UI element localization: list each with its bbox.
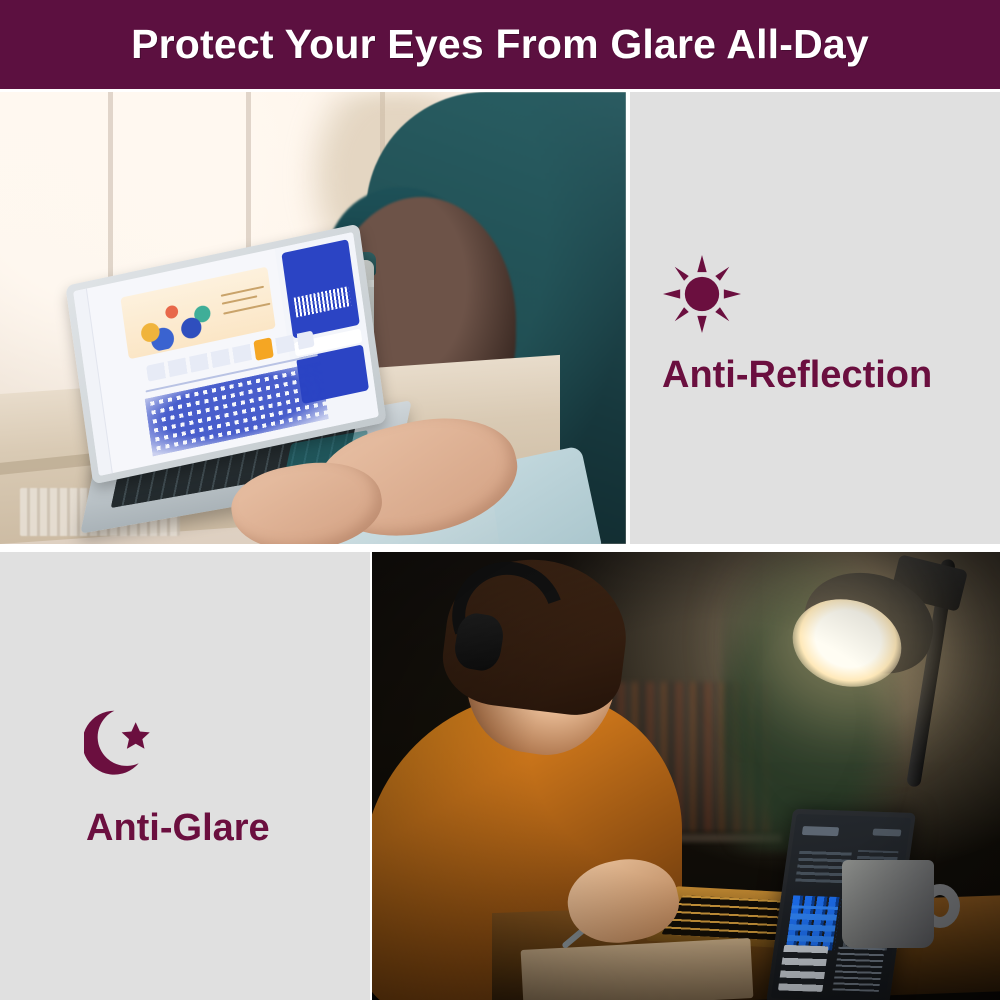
app-card-list <box>778 945 829 992</box>
app-chart-bars <box>787 905 838 942</box>
night-desk-lamp-photo <box>372 552 1000 1000</box>
feature-panel-anti-glare: Anti-Glare <box>0 552 370 1000</box>
notebook-paper <box>521 938 754 1000</box>
top-row: Anti-Reflection <box>0 92 1000 544</box>
page-title: Protect Your Eyes From Glare All-Day <box>131 21 869 68</box>
app-text-block <box>832 947 884 992</box>
time-chip-selected <box>253 337 273 361</box>
app-menu-placeholder <box>872 829 901 837</box>
feature-label-anti-glare: Anti-Glare <box>86 807 270 850</box>
feature-panel-anti-reflection: Anti-Reflection <box>630 92 1000 544</box>
coffee-mug <box>842 860 934 948</box>
app-sidebar <box>73 289 113 477</box>
sun-icon <box>663 255 741 333</box>
feature-label-anti-reflection: Anti-Reflection <box>662 354 932 397</box>
moon-icon <box>84 706 160 784</box>
daylight-laptop-photo <box>0 92 626 544</box>
infographic-canvas: Protect Your Eyes From Glare All-Day <box>0 0 1000 1000</box>
header-banner: Protect Your Eyes From Glare All-Day <box>0 0 1000 89</box>
app-logo-placeholder <box>802 826 839 836</box>
bottom-row: Anti-Glare <box>0 552 1000 1000</box>
